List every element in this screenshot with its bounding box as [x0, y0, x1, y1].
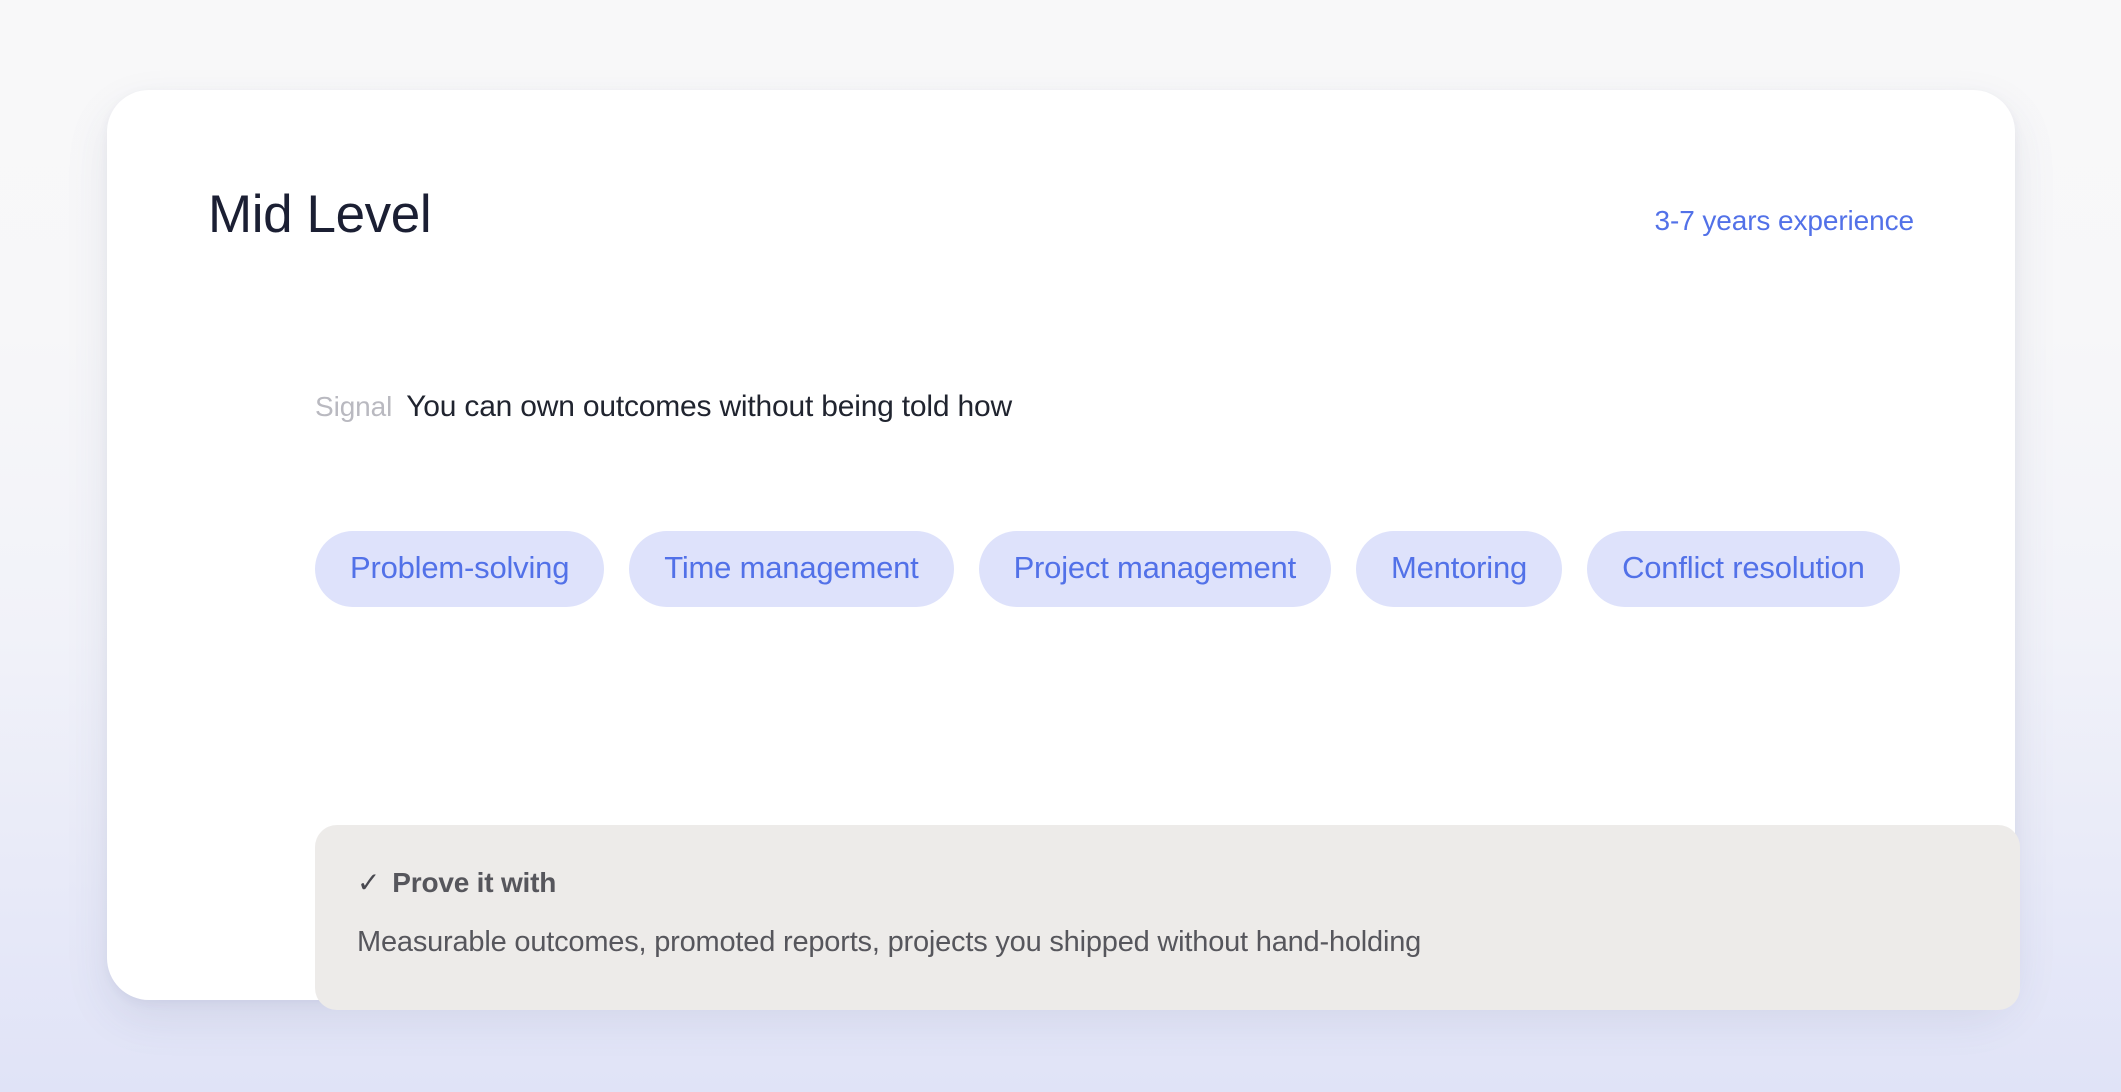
- prove-it-with-body: Measurable outcomes, promoted reports, p…: [357, 925, 1978, 960]
- skill-pill[interactable]: Time management: [629, 531, 953, 607]
- signal-text: You can own outcomes without being told …: [406, 390, 1012, 424]
- skill-pill[interactable]: Conflict resolution: [1587, 531, 1900, 607]
- card-header: Mid Level 3-7 years experience: [208, 188, 1914, 241]
- skill-pill[interactable]: Project management: [979, 531, 1331, 607]
- prove-it-with-heading: ✓ Prove it with: [357, 869, 1978, 897]
- page-root: Mid Level 3-7 years experience Signal Yo…: [0, 0, 2121, 1092]
- level-card: Mid Level 3-7 years experience Signal Yo…: [107, 90, 2015, 1000]
- experience-badge: 3-7 years experience: [1655, 207, 1914, 241]
- check-icon: ✓: [357, 869, 380, 897]
- skill-pill-list: Problem-solving Time management Project …: [315, 531, 1975, 607]
- skill-pill[interactable]: Mentoring: [1356, 531, 1562, 607]
- signal-row: Signal You can own outcomes without bein…: [315, 390, 1012, 424]
- prove-it-with-panel: ✓ Prove it with Measurable outcomes, pro…: [315, 825, 2020, 1010]
- skill-pill[interactable]: Problem-solving: [315, 531, 604, 607]
- signal-label: Signal: [315, 391, 392, 423]
- prove-it-with-label: Prove it with: [392, 869, 556, 897]
- page-title: Mid Level: [208, 188, 431, 241]
